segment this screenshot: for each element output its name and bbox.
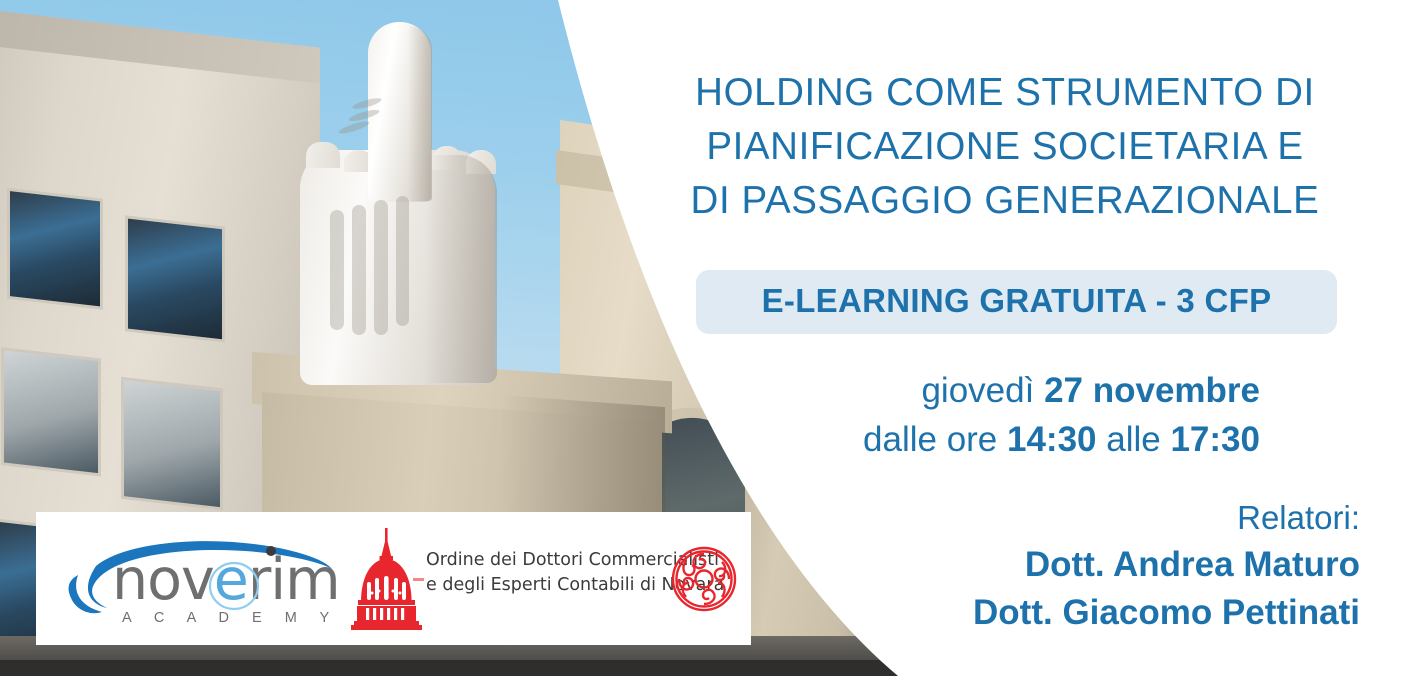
date-prefix: giovedì (921, 371, 1044, 410)
noverim-wordmark: nov e rim (112, 552, 340, 609)
title-line-2: PIANIFICAZIONE SOCIETARIA E (655, 120, 1355, 174)
event-datetime: giovedì 27 novembre dalle ore 14:30 alle… (640, 366, 1260, 464)
event-poster: HOLDING COME STRUMENTO DI PIANIFICAZIONE… (0, 0, 1414, 676)
time-prefix: dalle ore (863, 420, 1007, 459)
noverim-e-circle-icon (208, 561, 260, 611)
noverim-text-before: nov (112, 547, 214, 613)
event-date-line: giovedì 27 novembre (640, 366, 1260, 415)
speaker-name-1: Dott. Andrea Maturo (700, 541, 1360, 589)
logo-bar: nov e rim A C A D E M Y (36, 512, 751, 645)
speakers-section: Relatori: Dott. Andrea Maturo Dott. Giac… (700, 494, 1360, 637)
badge-label: E-LEARNING GRATUITA - 3 CFP (762, 282, 1272, 320)
odcec-emblem-icon (668, 542, 740, 616)
status-badge: E-LEARNING GRATUITA - 3 CFP (696, 270, 1337, 334)
title-line-1: HOLDING COME STRUMENTO DI (655, 66, 1355, 120)
speaker-name-2: Dott. Giacomo Pettinati (700, 589, 1360, 637)
date-value: 27 novembre (1044, 371, 1260, 410)
speakers-label: Relatori: (700, 494, 1360, 541)
noverim-academy-logo: nov e rim A C A D E M Y (60, 530, 350, 630)
time-middle: alle (1097, 420, 1171, 459)
title-line-3: DI PASSAGGIO GENERAZIONALE (655, 174, 1355, 228)
odcec-novara-logo: Ordine dei Dottori Commercialisti e degl… (348, 526, 738, 634)
noverim-text-after: rim (248, 547, 340, 613)
noverim-tagline: A C A D E M Y (122, 610, 339, 626)
content-layer: HOLDING COME STRUMENTO DI PIANIFICAZIONE… (0, 0, 1414, 676)
event-time-line: dalle ore 14:30 alle 17:30 (640, 415, 1260, 464)
time-end: 17:30 (1170, 420, 1260, 459)
page-title: HOLDING COME STRUMENTO DI PIANIFICAZIONE… (655, 66, 1355, 228)
time-start: 14:30 (1007, 420, 1097, 459)
